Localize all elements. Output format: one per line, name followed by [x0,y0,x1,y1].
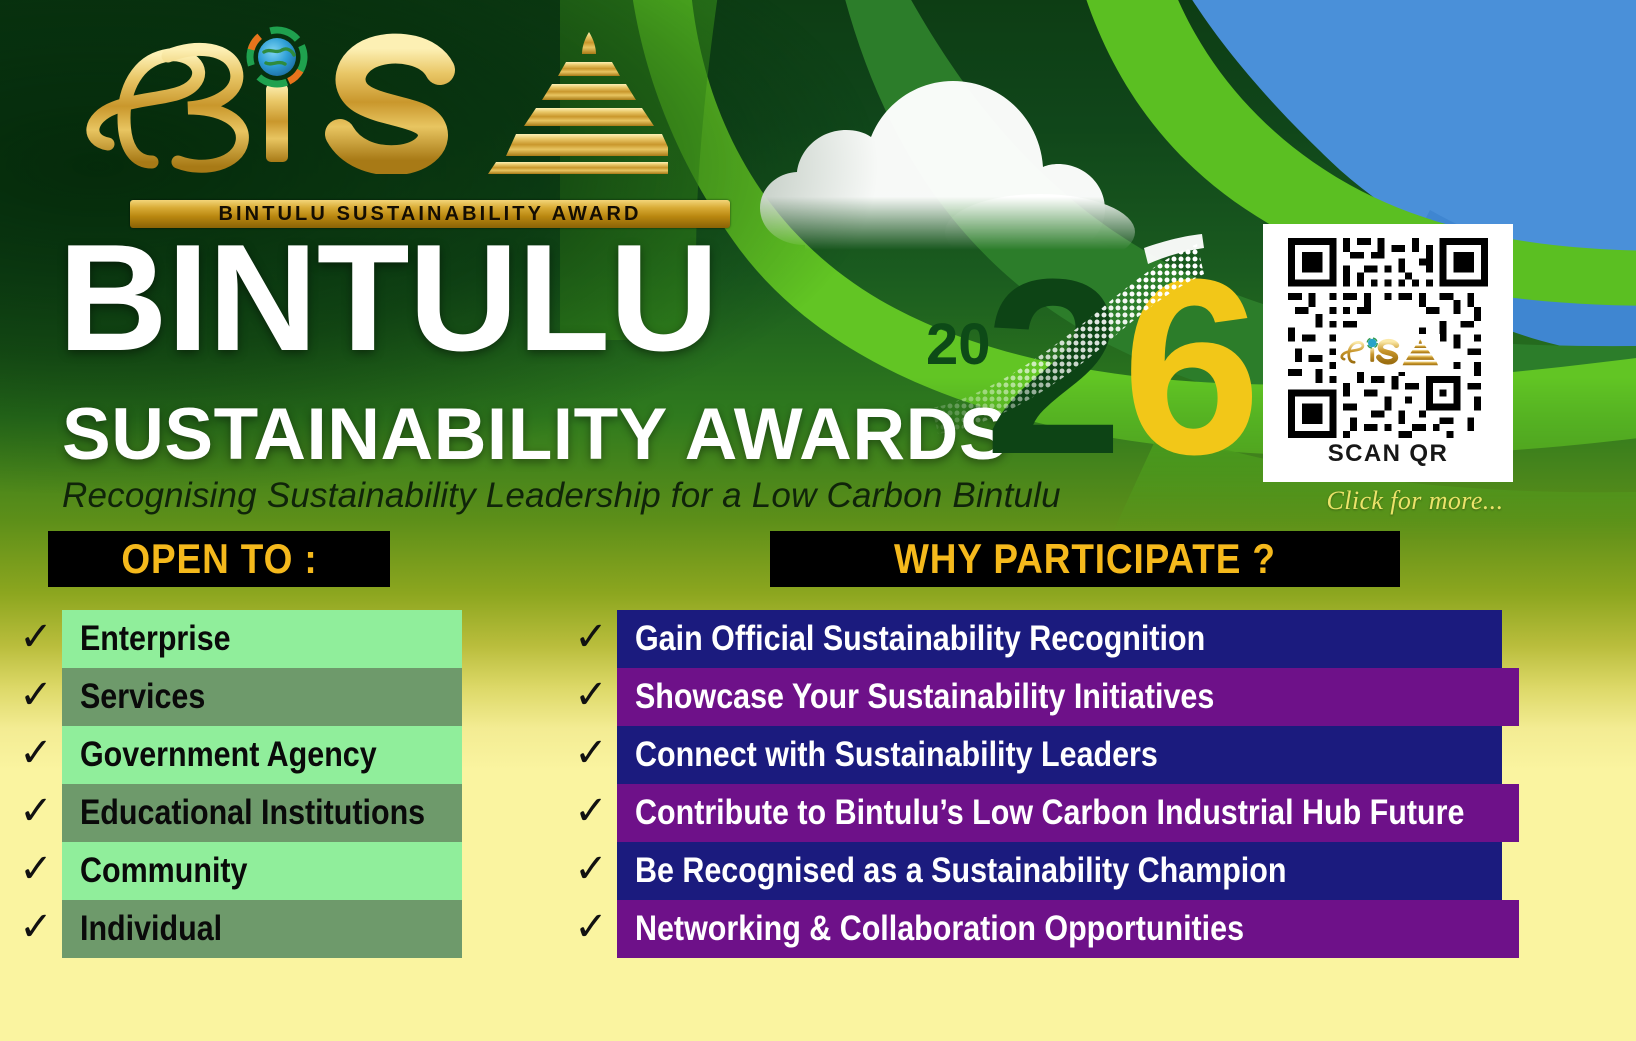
list-item-bar: Showcase Your Sustainability Initiatives [617,668,1519,726]
click-for-more-link[interactable]: Click for more... [1300,486,1530,516]
qr-embedded-logo-mark [1338,336,1438,370]
check-icon: ✓ [10,849,62,889]
list-item-bar: Enterprise [62,610,462,668]
list-item-bar: Be Recognised as a Sustainability Champi… [617,842,1502,900]
check-icon: ✓ [10,675,62,715]
list-item: ✓Networking & Collaboration Opportunitie… [565,900,1635,958]
tagline: Recognising Sustainability Leadership fo… [62,476,1061,516]
list-item-bar: Community [62,842,462,900]
check-icon: ✓ [565,907,617,947]
list-item-label: Enterprise [80,619,231,659]
list-item: ✓Educational Institutions [10,784,480,842]
open-to-list: ✓Enterprise✓Services✓Government Agency✓E… [10,610,480,958]
check-icon: ✓ [565,849,617,889]
list-item: ✓Community [10,842,480,900]
open-to-header: OPEN TO : [48,531,390,587]
why-participate-header-text: WHY PARTICIPATE ? [894,535,1276,583]
check-icon: ✓ [10,907,62,947]
list-item-label: Networking & Collaboration Opportunities [635,909,1244,949]
list-item-label: Contribute to Bintulu’s Low Carbon Indus… [635,793,1464,833]
page-title: BINTULU [58,222,718,374]
page-subtitle: SUSTAINABILITY AWARDS [62,398,1008,471]
poster: BINTULU SUSTAINABILITY AWARD BINTULU SUS… [0,0,1636,1041]
open-to-header-text: OPEN TO : [121,535,317,583]
list-item-bar: Contribute to Bintulu’s Low Carbon Indus… [617,784,1519,842]
list-item-bar: Connect with Sustainability Leaders [617,726,1502,784]
list-item: ✓Services [10,668,480,726]
qr-embedded-logo [1336,334,1440,372]
check-icon: ✓ [565,617,617,657]
list-item: ✓Connect with Sustainability Leaders [565,726,1635,784]
why-participate-list: ✓Gain Official Sustainability Recognitio… [565,610,1635,958]
list-item-bar: Networking & Collaboration Opportunities [617,900,1519,958]
list-item-label: Educational Institutions [80,793,425,833]
check-icon: ✓ [565,791,617,831]
list-item: ✓Showcase Your Sustainability Initiative… [565,668,1635,726]
list-item: ✓Be Recognised as a Sustainability Champ… [565,842,1635,900]
list-item-label: Government Agency [80,735,377,775]
check-icon: ✓ [10,733,62,773]
list-item-bar: Services [62,668,462,726]
check-icon: ✓ [565,675,617,715]
list-item: ✓Enterprise [10,610,480,668]
list-item-bar: Gain Official Sustainability Recognition [617,610,1502,668]
list-item-label: Connect with Sustainability Leaders [635,735,1158,775]
check-icon: ✓ [10,617,62,657]
scan-qr-label: SCAN QR [1328,440,1448,468]
list-item: ✓Government Agency [10,726,480,784]
list-item-label: Be Recognised as a Sustainability Champi… [635,851,1286,891]
list-item: ✓Contribute to Bintulu’s Low Carbon Indu… [565,784,1635,842]
list-item: ✓Gain Official Sustainability Recognitio… [565,610,1635,668]
list-item-label: Gain Official Sustainability Recognition [635,619,1205,659]
halftone-streak-graphic [912,228,1212,496]
list-item-label: Individual [80,909,222,949]
list-item-label: Community [80,851,247,891]
bisa-logo[interactable]: BINTULU SUSTAINABILITY AWARD [68,22,668,212]
list-item-bar: Educational Institutions [62,784,462,842]
qr-panel[interactable]: SCAN QR [1263,224,1513,482]
list-item-bar: Individual [62,900,462,958]
check-icon: ✓ [10,791,62,831]
list-item-label: Showcase Your Sustainability Initiatives [635,677,1214,717]
check-icon: ✓ [565,733,617,773]
list-item-bar: Government Agency [62,726,462,784]
list-item: ✓Individual [10,900,480,958]
why-participate-header: WHY PARTICIPATE ? [770,531,1400,587]
list-item-label: Services [80,677,205,717]
year-2026-graphic: 6 2 20 [912,228,1212,496]
bisa-logo-mark [68,22,668,174]
